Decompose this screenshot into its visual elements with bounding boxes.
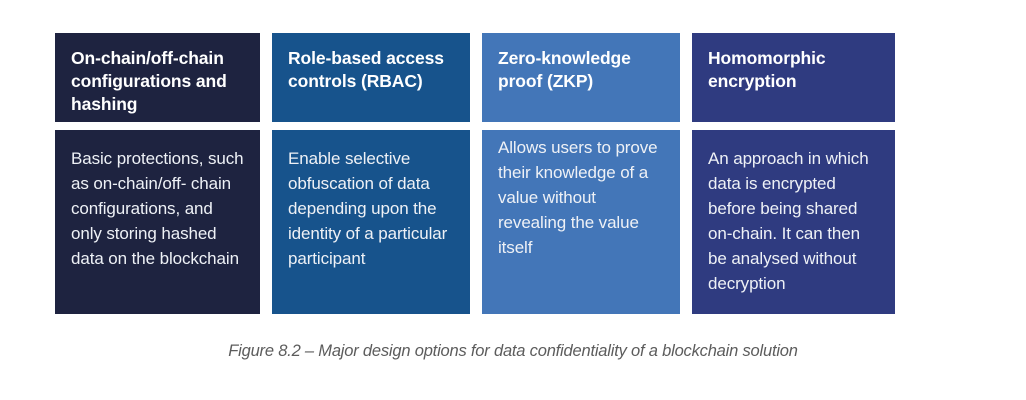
figure-container: On-chain/off-chain configurations and ha…: [0, 0, 1026, 400]
option-header-homomorphic-encryption: Homomorphic encryption: [692, 33, 895, 122]
option-column-on-chain-off-chain: On-chain/off-chain configurations and ha…: [55, 33, 260, 314]
option-body-zkp: Allows users to prove their knowledge of…: [482, 130, 680, 314]
option-body-rbac: Enable selective obfuscation of data dep…: [272, 130, 470, 314]
option-column-homomorphic-encryption: Homomorphic encryption An approach in wh…: [692, 33, 895, 314]
design-options-row: On-chain/off-chain configurations and ha…: [55, 33, 895, 314]
option-column-rbac: Role-based access controls (RBAC) Enable…: [272, 33, 470, 314]
option-header-zkp: Zero-knowledge proof (ZKP): [482, 33, 680, 122]
option-column-zkp: Zero-knowledge proof (ZKP) Allows users …: [482, 33, 680, 314]
option-header-rbac: Role-based access controls (RBAC): [272, 33, 470, 122]
figure-caption: Figure 8.2 – Major design options for da…: [0, 342, 1026, 361]
option-header-on-chain-off-chain: On-chain/off-chain configurations and ha…: [55, 33, 260, 122]
option-body-on-chain-off-chain: Basic protections, such as on-chain/off-…: [55, 130, 260, 314]
option-body-homomorphic-encryption: An approach in which data is encrypted b…: [692, 130, 895, 314]
